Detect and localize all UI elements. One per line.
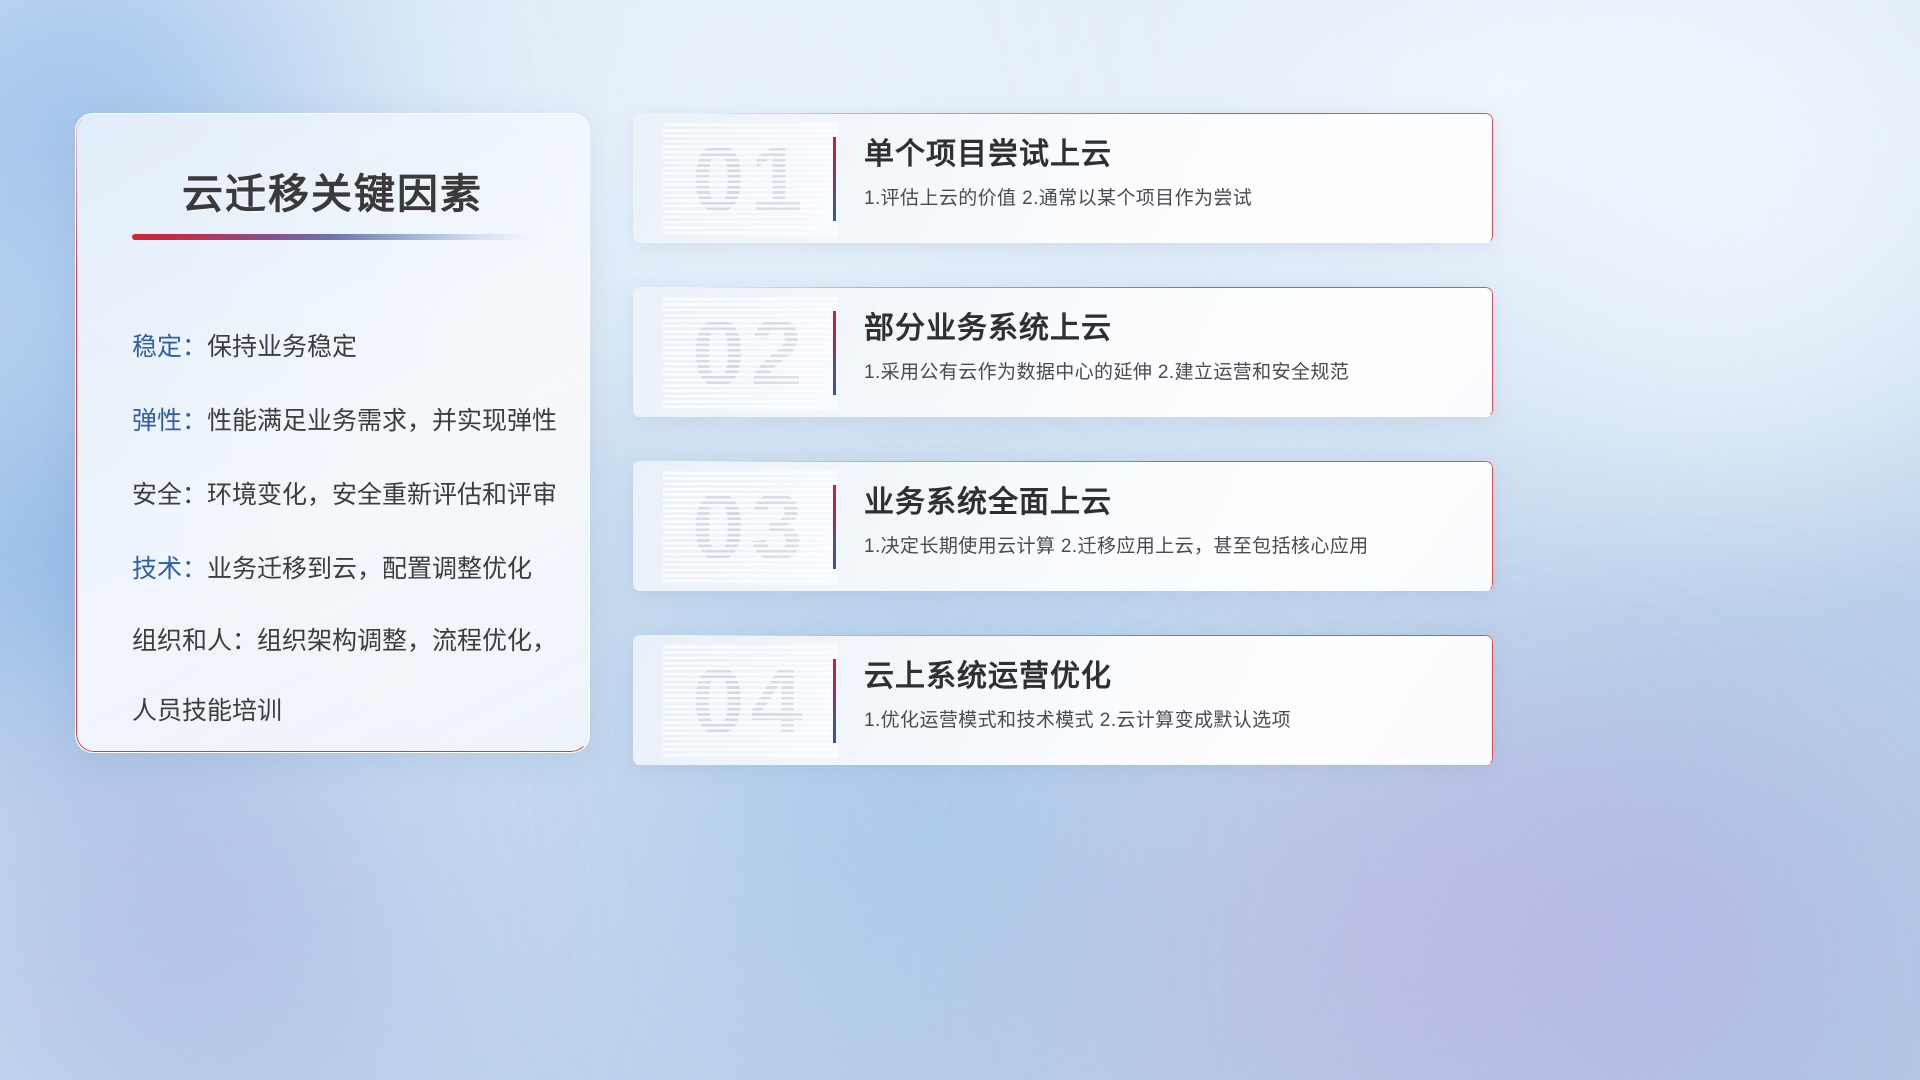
factor-label: 组织和人： [132, 627, 257, 655]
factor-text: 保持业务稳定 [207, 333, 357, 361]
stage-number-watermark: 04 [663, 643, 838, 759]
stage-title: 单个项目尝试上云 [864, 135, 1467, 175]
stage-number-text: 02 [663, 295, 838, 411]
stage-card-list: 01 单个项目尝试上云 1.评估上云的价值 2.通常以某个项目作为尝试 02 部… [633, 113, 1493, 809]
stage-subtitle: 1.决定长期使用云计算 2.迁移应用上云，甚至包括核心应用 [864, 533, 1467, 561]
stage-accent-bar [833, 311, 836, 395]
stage-card-body: 业务系统全面上云 1.决定长期使用云计算 2.迁移应用上云，甚至包括核心应用 [864, 483, 1467, 561]
factor-list: 稳定：保持业务稳定 弹性：性能满足业务需求，并实现弹性 安全：环境变化，安全重新… [132, 310, 555, 746]
factor-text: 组织架构调整，流程优化， [257, 627, 557, 655]
stage-number-watermark: 02 [663, 295, 838, 411]
stage-card-01[interactable]: 01 单个项目尝试上云 1.评估上云的价值 2.通常以某个项目作为尝试 [633, 113, 1493, 243]
factor-label: 安全： [132, 481, 207, 509]
stage-card-02[interactable]: 02 部分业务系统上云 1.采用公有云作为数据中心的延伸 2.建立运营和安全规范 [633, 287, 1493, 417]
factor-label: 弹性： [132, 407, 207, 435]
stage-number-watermark: 01 [663, 121, 838, 237]
stage-accent-bar [833, 485, 836, 569]
factor-text: 性能满足业务需求，并实现弹性 [207, 407, 557, 435]
stage-card-body: 单个项目尝试上云 1.评估上云的价值 2.通常以某个项目作为尝试 [864, 135, 1467, 213]
factor-row: 稳定：保持业务稳定 [132, 310, 555, 384]
factor-text: 人员技能培训 [132, 697, 282, 725]
stage-number-watermark: 03 [663, 469, 838, 585]
stage-accent-bar [833, 659, 836, 743]
stage-title: 业务系统全面上云 [864, 483, 1467, 523]
panel-title: 云迁移关键因素 [76, 160, 589, 220]
stage-title: 部分业务系统上云 [864, 309, 1467, 349]
factor-row: 弹性：性能满足业务需求，并实现弹性 [132, 384, 555, 458]
stage-number-text: 04 [663, 643, 838, 759]
factor-text: 环境变化，安全重新评估和评审 [207, 481, 557, 509]
stage-number-text: 01 [663, 121, 838, 237]
key-factors-panel: 云迁移关键因素 稳定：保持业务稳定 弹性：性能满足业务需求，并实现弹性 安全：环… [75, 113, 590, 753]
stage-number-text: 03 [663, 469, 838, 585]
stage-card-03[interactable]: 03 业务系统全面上云 1.决定长期使用云计算 2.迁移应用上云，甚至包括核心应… [633, 461, 1493, 591]
stage-subtitle: 1.评估上云的价值 2.通常以某个项目作为尝试 [864, 185, 1467, 213]
stage-card-04[interactable]: 04 云上系统运营优化 1.优化运营模式和技术模式 2.云计算变成默认选项 [633, 635, 1493, 765]
factor-row: 技术：业务迁移到云，配置调整优化 [132, 532, 555, 606]
stage-card-body: 云上系统运营优化 1.优化运营模式和技术模式 2.云计算变成默认选项 [864, 657, 1467, 735]
stage-subtitle: 1.优化运营模式和技术模式 2.云计算变成默认选项 [864, 707, 1467, 735]
factor-row: 组织和人：组织架构调整，流程优化， [132, 606, 555, 676]
factor-row: 安全：环境变化，安全重新评估和评审 [132, 458, 555, 532]
factor-label: 技术： [132, 555, 207, 583]
panel-title-underline [132, 234, 532, 240]
factor-label: 稳定： [132, 333, 207, 361]
stage-title: 云上系统运营优化 [864, 657, 1467, 697]
factor-row-continued: 人员技能培训 [132, 676, 555, 746]
stage-subtitle: 1.采用公有云作为数据中心的延伸 2.建立运营和安全规范 [864, 359, 1467, 387]
factor-text: 业务迁移到云，配置调整优化 [207, 555, 532, 583]
stage-card-body: 部分业务系统上云 1.采用公有云作为数据中心的延伸 2.建立运营和安全规范 [864, 309, 1467, 387]
stage-accent-bar [833, 137, 836, 221]
